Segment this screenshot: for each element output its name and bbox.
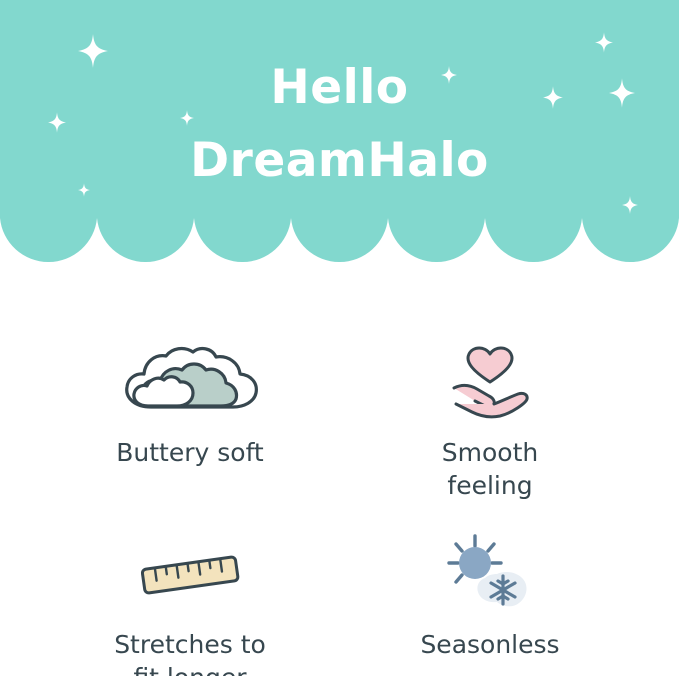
feature-label: Stretches to fit longer bbox=[40, 628, 340, 676]
feature-item-stretches: Stretches to fit longer bbox=[40, 534, 340, 676]
feature-label: Buttery soft bbox=[40, 436, 340, 469]
feature-label: Seasonless bbox=[340, 628, 640, 661]
feature-label: Smooth feeling bbox=[340, 436, 640, 502]
sparkle-icon bbox=[622, 196, 638, 214]
feature-item-seasonless: Seasonless bbox=[340, 534, 640, 661]
page-title: Hello DreamHalo bbox=[0, 52, 679, 198]
sparkle-icon bbox=[595, 32, 613, 53]
feature-item-smooth-feeling: Smooth feeling bbox=[340, 342, 640, 502]
product-feature-graphic: Hello DreamHalo Buttery soft bbox=[0, 0, 679, 676]
feature-item-buttery-soft: Buttery soft bbox=[40, 342, 340, 469]
header-banner: Hello DreamHalo bbox=[0, 0, 679, 262]
ruler-icon bbox=[40, 534, 340, 614]
hand-heart-icon bbox=[340, 342, 640, 422]
cloud-icon bbox=[40, 342, 340, 422]
title-line-2: DreamHalo bbox=[0, 125, 679, 198]
sun-snowflake-icon bbox=[340, 534, 640, 614]
title-line-1: Hello bbox=[0, 52, 679, 125]
feature-grid: Buttery soft Smooth feeling bbox=[0, 262, 679, 676]
